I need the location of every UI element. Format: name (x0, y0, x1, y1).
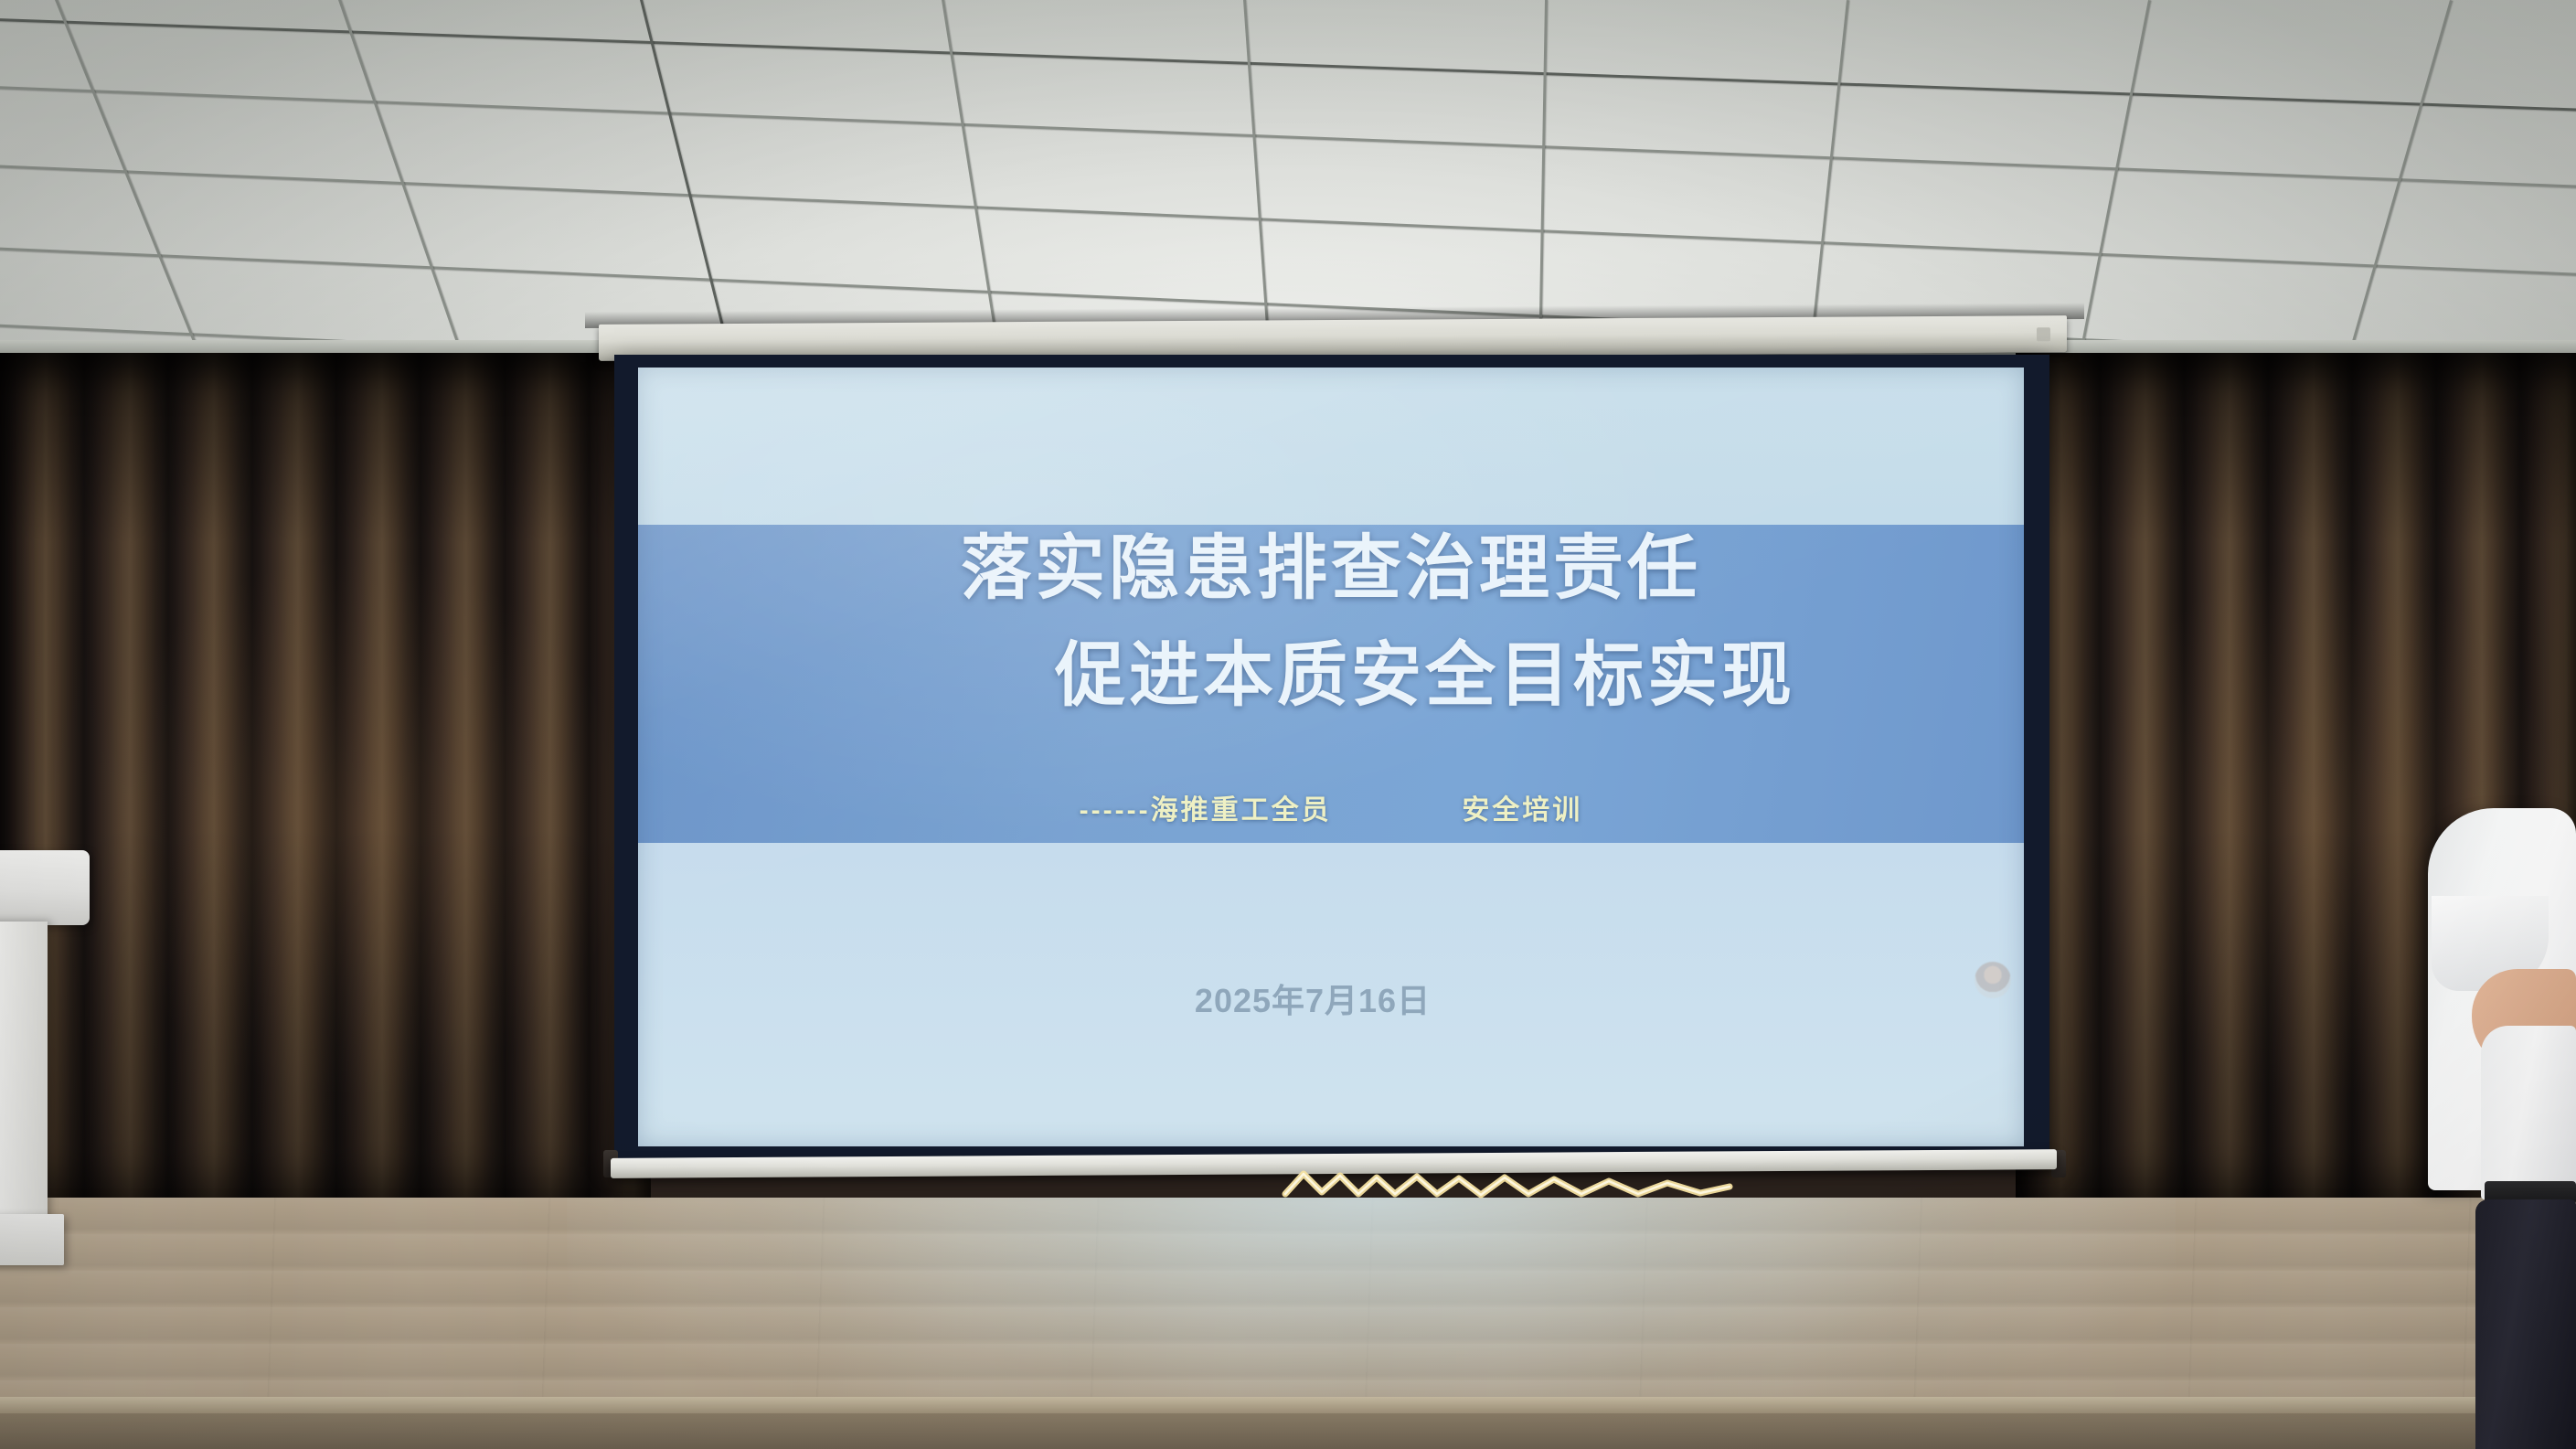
stage-front-face (0, 1413, 2576, 1449)
slide-subtitle: ------海推重工全员 安全培训 (638, 787, 2024, 827)
curtain-warm-light (0, 353, 651, 1212)
person-torso (2481, 1026, 2576, 1199)
slide-subtitle-right: 安全培训 (1462, 795, 1582, 826)
housing-end-cap-icon (2037, 327, 2050, 341)
lectern-column (0, 922, 48, 1223)
slide-title: 落实隐患排查治理责任 促进本质安全目标实现 (638, 534, 2024, 711)
lectern-top-surface (0, 850, 90, 925)
slide-title-line-2: 促进本质安全目标实现 (638, 641, 2024, 711)
presentation-slide: 落实隐患排查治理责任 促进本质安全目标实现 ------海推重工全员 安全培训 … (638, 368, 2024, 1146)
slide-title-line-1: 落实隐患排查治理责任 (638, 534, 2024, 604)
slide-band-top (638, 368, 2024, 525)
white-lectern (0, 850, 90, 1280)
slide-subtitle-left: ------海推重工全员 (1080, 795, 1332, 826)
stage-edge-lip (0, 1397, 2576, 1415)
projection-screen-surface: 落实隐患排查治理责任 促进本质安全目标实现 ------海推重工全员 安全培训 … (638, 368, 2024, 1146)
brown-velvet-curtain-left (0, 353, 651, 1212)
curtain-shading (0, 353, 651, 1212)
lectern-base (0, 1214, 64, 1265)
person-trousers (2475, 1199, 2576, 1449)
slide-date: 2025年7月16日 (638, 975, 2024, 1022)
profile-avatar-icon (1975, 962, 2011, 998)
person-in-white-shirt (2428, 808, 2576, 1449)
presentation-room-photo: 落实隐患排查治理责任 促进本质安全目标实现 ------海推重工全员 安全培训 … (0, 0, 2576, 1449)
projection-screen-frame: 落实隐患排查治理责任 促进本质安全目标实现 ------海推重工全员 安全培训 … (614, 355, 2049, 1159)
